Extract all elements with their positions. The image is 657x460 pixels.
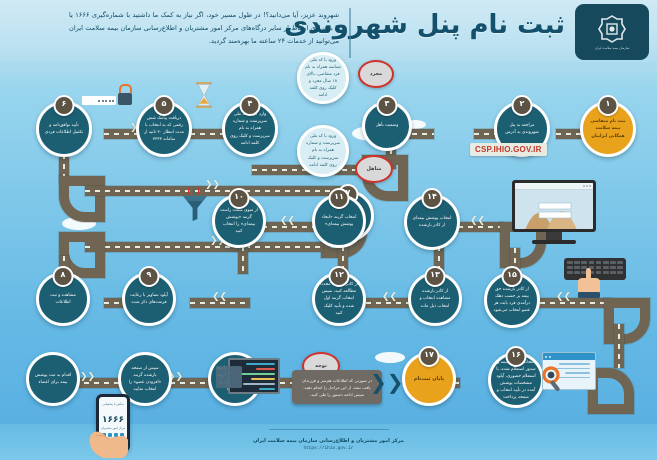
road-segment	[614, 324, 624, 368]
step-node-16[interactable]: ۱۶ انتخاب پوشش بیمه و صدور استعلام شده، …	[488, 352, 544, 408]
note-chevron-icon: ❮❮	[370, 372, 404, 392]
step-text-8: مشاهده و ثبت اطلاعات	[44, 292, 82, 306]
step-number-2: ۲	[512, 95, 533, 116]
callout-single-text: ورود با کد ملی شناسه همراه به نام فرد مت…	[305, 57, 341, 99]
step-node-3[interactable]: ۳ وضعیت تأهل	[362, 101, 412, 151]
pill-single-label: مجرد	[370, 71, 382, 77]
footer-org: مرکز امور مشتریان و اطلاع‌رسانی سازمان ب…	[0, 438, 657, 444]
road-arrow: ❯❯	[212, 293, 227, 302]
road-arrow: ❯❯	[556, 293, 571, 302]
step-number-3: ۳	[377, 95, 398, 116]
step-text-5: دریافت پیامک شش رقمی که به انتخاب با مدت…	[144, 115, 184, 143]
step-node-9[interactable]: ۹ آپلود تصاویر با رعایت فرمت‌های ذکر شده	[122, 272, 176, 326]
logo-caption: سازمان بیمه سلامت ایران	[595, 46, 630, 50]
phone-caption-top: تماس با پشتیبانی	[99, 402, 127, 406]
step-text-11: انتخاب گزینه «ایجاد پوشش بیمه‌ای»	[320, 214, 358, 228]
step-node-13[interactable]: ۱۳ از کادر بازشده مشاهده انتخاب و انتخاب…	[408, 272, 462, 326]
step-number-9: ۹	[139, 266, 160, 287]
magnifier-icon	[538, 364, 568, 398]
step-text-6: تأیید توافق‌نامه و تکمیل اطلاعات فردی	[44, 122, 84, 136]
step-number-13: ۱۳	[425, 266, 446, 287]
step-number-16: ۱۶	[506, 346, 527, 367]
ihio-logo-icon	[598, 15, 626, 43]
step-number-6: ۶	[54, 95, 75, 116]
monitor-icon	[512, 180, 596, 232]
step-node-8[interactable]: ۸ مشاهده و ثبت اطلاعات	[36, 272, 90, 326]
lock-icon	[118, 84, 132, 105]
attention-note: در صورتی که اطلاعات هم‌سر و فرزندان یافت…	[292, 370, 382, 404]
step-text-10: از منوی سمت راست گزینه «پوشش بیمه‌ای» را…	[220, 207, 258, 235]
step-number-1: ۱	[598, 95, 619, 116]
header-divider	[349, 8, 351, 58]
secondary-window-icon	[216, 366, 242, 388]
road-arrow: ❮❮	[80, 373, 95, 382]
road-arrow: ❯❯	[382, 293, 397, 302]
step-text-15: از کادر بازشده حق بیمه بر حسب دهک درآمدی…	[492, 286, 532, 314]
step-node-10[interactable]: ۱۰ از منوی سمت راست گزینه «پوشش بیمه‌ای»…	[212, 194, 266, 248]
pill-single: مجرد	[358, 60, 394, 88]
step-node-18[interactable]: اقدام به ثبت پوشش بیمه برای اعضاء	[26, 352, 80, 406]
step-number-15: ۱۵	[502, 266, 523, 287]
callout-married: ورود با کد ملی سرپرست و شماره همراه به ن…	[297, 125, 349, 177]
monitor-illustration	[512, 180, 596, 244]
monitor-neck	[546, 232, 562, 240]
ihio-logo: سازمان بیمه سلامت ایران	[575, 4, 649, 60]
pill-married: متاهل	[355, 155, 393, 183]
step-number-14: ۱۴	[422, 188, 443, 209]
step-node-15[interactable]: ۱۵ از کادر بازشده حق بیمه بر حسب دهک درآ…	[484, 272, 540, 328]
footer: مرکز امور مشتریان و اطلاع‌رسانی سازمان ب…	[0, 438, 657, 451]
step-text-17: پایان ثبت‌نام	[414, 375, 444, 383]
step-text-4: وارد کردن کد ملی سرپرست و شماره همراه به…	[230, 111, 270, 146]
callout-married-text: ورود با کد ملی سرپرست و شماره همراه به ن…	[305, 133, 341, 168]
footer-url[interactable]: https://ihio.gov.ir	[0, 446, 657, 451]
password-field-icon	[82, 96, 116, 105]
portal-url[interactable]: CSP.IHIO.GOV.IR	[470, 143, 547, 156]
footer-divider	[269, 429, 389, 430]
cloud-3	[375, 352, 405, 363]
step-node-12[interactable]: ۱۲ از کادر بازشده مجدداً مطالعه کنید، سپ…	[312, 272, 366, 326]
step-text-1: ثبت نام متقاضی بیمه سلامت همگانی ایرانیا…	[588, 118, 628, 139]
step-node-14[interactable]: ۱۴ انتخاب پوشش بیمه‌ای از کادر بازشده	[404, 194, 460, 250]
step-number-8: ۸	[53, 266, 74, 287]
step-number-5: ۵	[154, 95, 175, 116]
step-text-9: آپلود تصاویر با رعایت فرمت‌های ذکر شده	[130, 292, 168, 306]
callout-single: ورود با کد ملی شناسه همراه به نام فرد مت…	[297, 52, 349, 104]
step-node-4[interactable]: ۴ وارد کردن کد ملی سرپرست و شماره همراه …	[222, 101, 278, 157]
password-illustration	[82, 84, 132, 105]
step-node-17[interactable]: ۱۷ پایان ثبت‌نام	[402, 352, 456, 406]
step-node-6[interactable]: ۶ تأیید توافق‌نامه و تکمیل اطلاعات فردی	[36, 101, 92, 157]
step-text-13: از کادر بازشده مشاهده انتخاب و انتخاب ذی…	[416, 288, 454, 309]
step-number-4: ۴	[240, 95, 261, 116]
step-number-11: ۱۱	[329, 188, 350, 209]
road-arrow: ❯❯	[280, 217, 295, 226]
step-node-11[interactable]: ۱۱ انتخاب گزینه «ایجاد پوشش بیمه‌ای»	[312, 194, 366, 248]
step-text-2: مراجعه به پنل شهروندی به آدرس	[502, 122, 542, 136]
hourglass-icon	[194, 82, 214, 112]
step-number-17: ۱۷	[419, 346, 440, 367]
intro-paragraph: شهروند عزیز، آیا می‌دانید؟! در طول مسیر …	[69, 9, 339, 48]
monitor-base	[532, 240, 576, 244]
funnel-icon	[182, 188, 208, 226]
step-node-1[interactable]: ۱ ثبت نام متقاضی بیمه سلامت همگانی ایران…	[580, 101, 636, 157]
pill-married-label: متاهل	[367, 166, 382, 172]
attention-note-text: در صورتی که اطلاعات هم‌سر و فرزندان یافت…	[302, 378, 372, 397]
hand-pointer-icon	[578, 266, 604, 302]
step-node-5[interactable]: ۵ دریافت پیامک شش رقمی که به انتخاب با م…	[136, 101, 192, 157]
pill-attention-label: توجه	[315, 363, 327, 369]
step-text-19: سپس از صفحه بازشده گزینه «افزودن عضو» را…	[126, 365, 164, 393]
infographic-canvas: سازمان بیمه سلامت ایران ثبت نام پنل شهرو…	[0, 0, 657, 460]
road-arrow: ❯❯	[470, 217, 485, 226]
road-segment	[85, 242, 323, 252]
step-text-14: انتخاب پوشش بیمه‌ای از کادر بازشده	[412, 215, 452, 229]
road-segment	[238, 246, 248, 274]
step-number-12: ۱۲	[329, 266, 350, 287]
step-number-10: ۱۰	[229, 188, 250, 209]
step-text-18: اقدام به ثبت پوشش بیمه برای اعضاء	[34, 372, 72, 386]
step-text-3: وضعیت تأهل	[376, 122, 399, 129]
